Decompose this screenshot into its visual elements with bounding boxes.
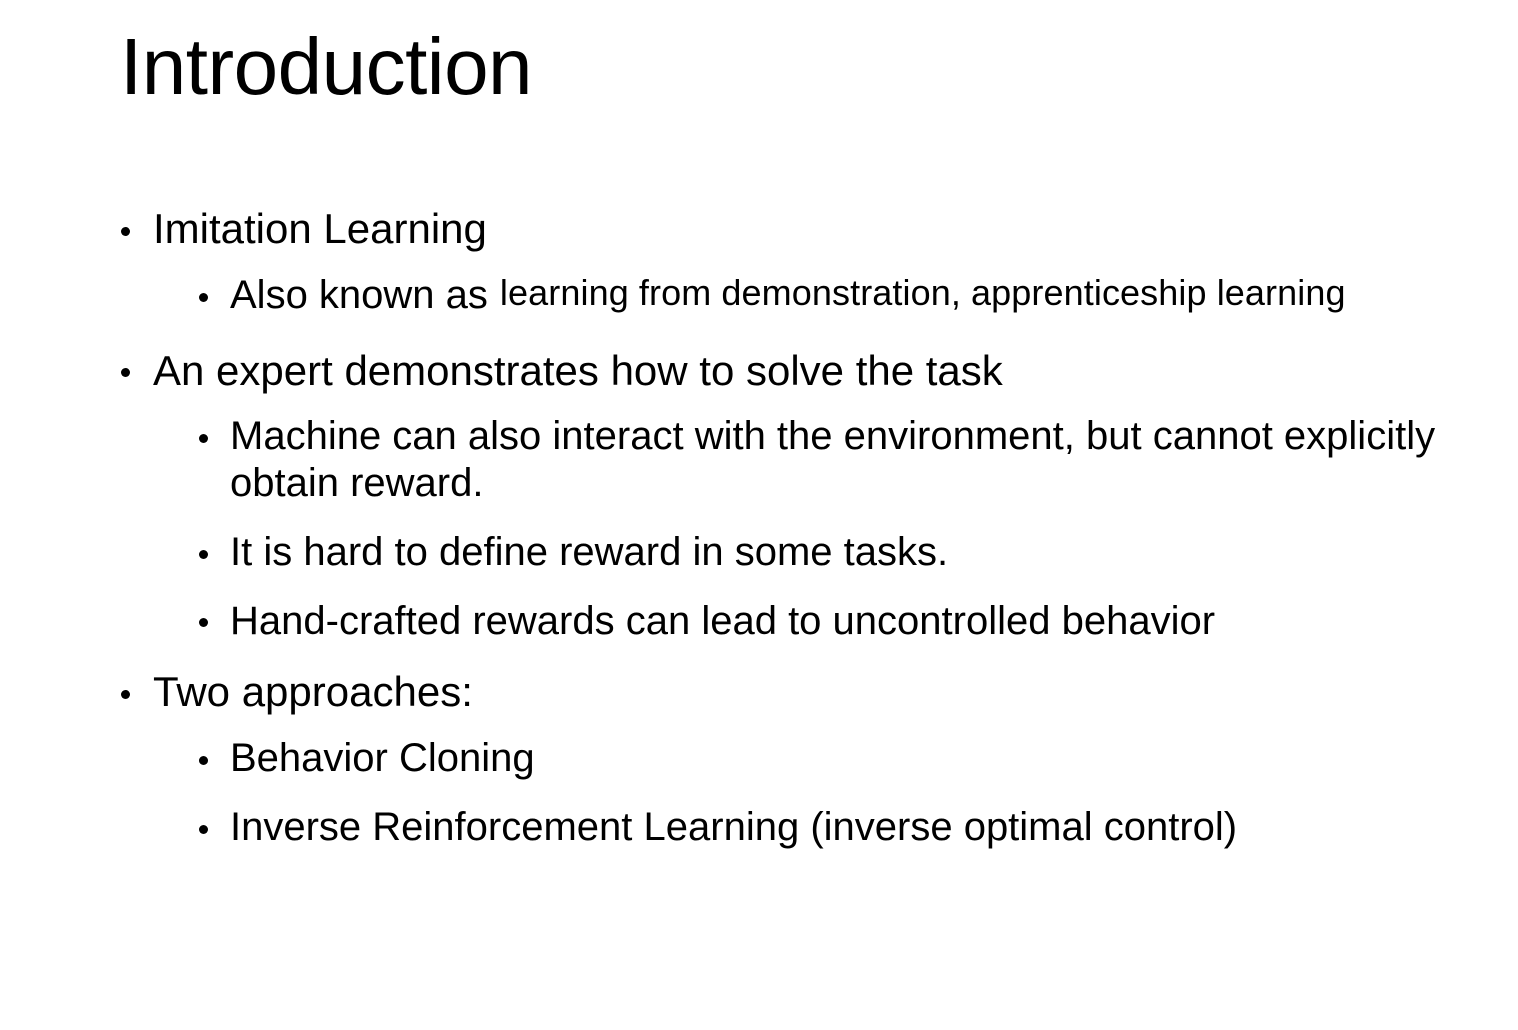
bullet-dot-icon: [199, 618, 208, 627]
bullet-list: Imitation Learning Also known aslearning…: [0, 205, 1518, 859]
list-item-label: Machine can also interact with the envir…: [230, 414, 1435, 505]
bullet-dot-icon: [199, 434, 208, 443]
list-item-label: Behavior Cloning: [230, 736, 535, 780]
list-item-inline-continuation: learning from demonstration, apprentices…: [500, 272, 1346, 313]
list-item[interactable]: An expert demonstrates how to solve the …: [0, 347, 1518, 396]
list-item-label: Also known as: [230, 273, 488, 317]
list-item-label: Inverse Reinforcement Learning (inverse …: [230, 805, 1237, 849]
list-item-label: Two approaches:: [153, 668, 473, 715]
list-item[interactable]: Machine can also interact with the envir…: [0, 413, 1518, 507]
bullet-dot-icon: [199, 550, 208, 559]
list-item[interactable]: Behavior Cloning: [0, 735, 1518, 782]
page-title: Introduction: [120, 24, 532, 110]
bullet-dot-icon: [199, 293, 208, 302]
list-item[interactable]: Also known aslearning from demonstration…: [0, 272, 1518, 319]
bullet-dot-icon: [121, 368, 130, 377]
list-item[interactable]: Hand-crafted rewards can lead to uncontr…: [0, 598, 1518, 645]
list-item-label: An expert demonstrates how to solve the …: [153, 347, 1003, 394]
list-item[interactable]: It is hard to define reward in some task…: [0, 529, 1518, 576]
list-item[interactable]: Imitation Learning: [0, 205, 1518, 254]
list-item-label: Hand-crafted rewards can lead to uncontr…: [230, 599, 1215, 643]
list-item[interactable]: Inverse Reinforcement Learning (inverse …: [0, 804, 1518, 851]
bullet-dot-icon: [199, 756, 208, 765]
bullet-dot-icon: [121, 690, 130, 699]
list-item-label: Imitation Learning: [153, 205, 487, 252]
list-item[interactable]: Two approaches:: [0, 668, 1518, 717]
slide-canvas: Introduction Imitation Learning Also kno…: [0, 0, 1518, 1030]
list-item-label: It is hard to define reward in some task…: [230, 530, 948, 574]
bullet-dot-icon: [199, 825, 208, 834]
bullet-dot-icon: [121, 227, 130, 236]
